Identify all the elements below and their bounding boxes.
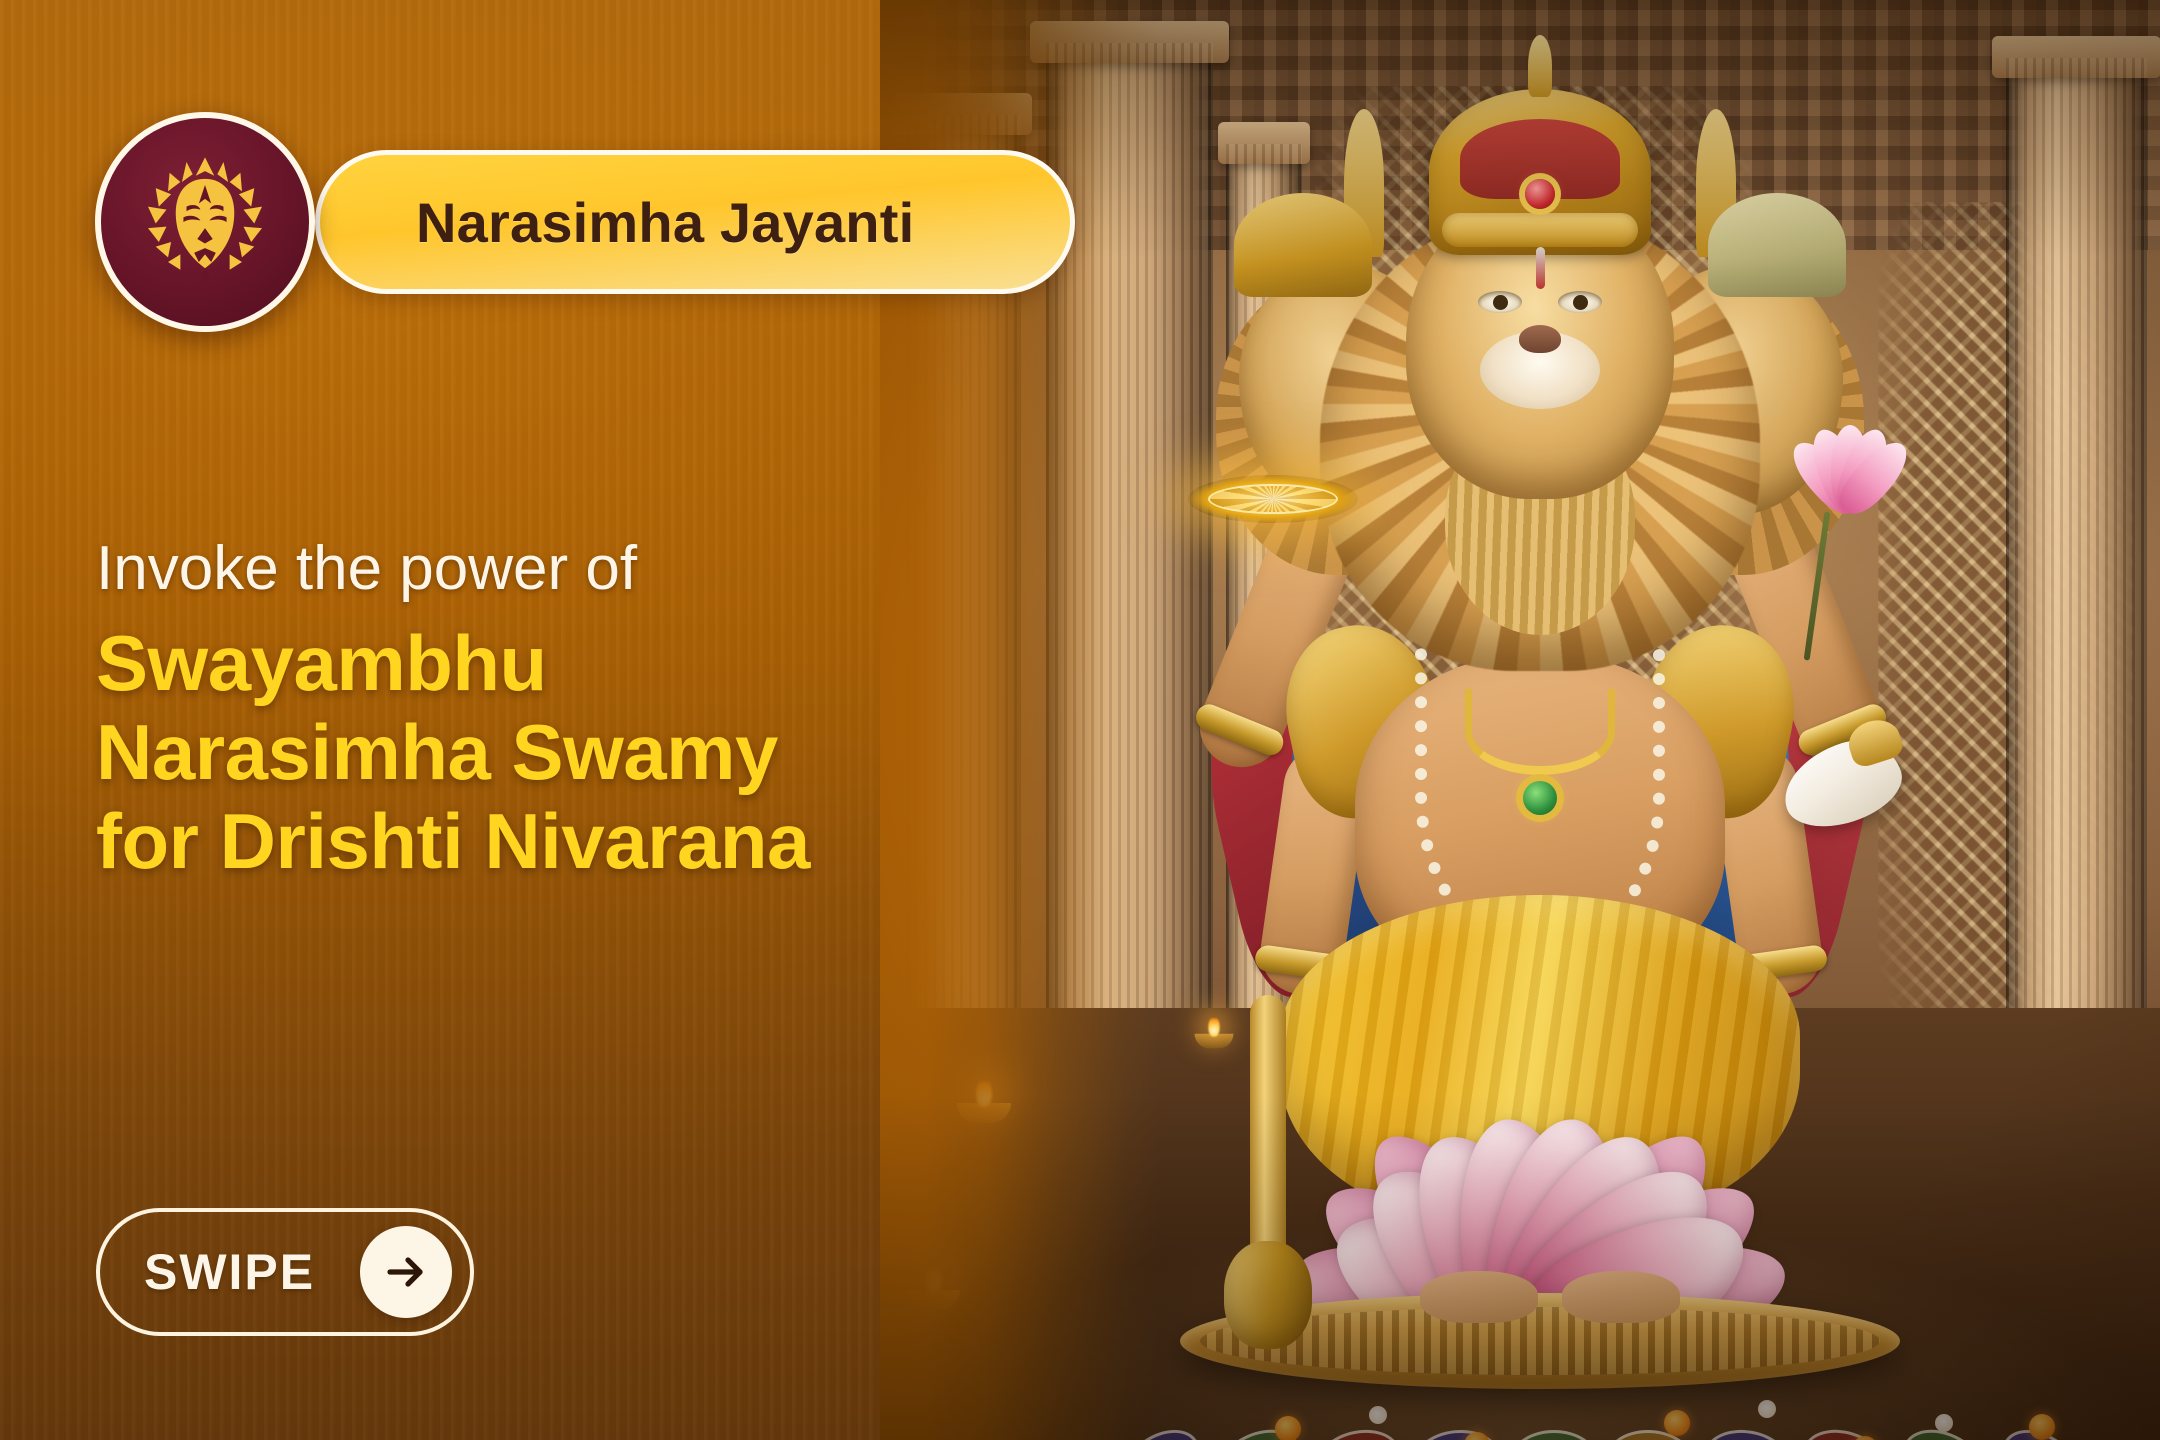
crown-left — [1234, 193, 1372, 297]
sudarshana-chakra-icon — [1188, 475, 1358, 523]
swipe-label: SWIPE — [144, 1243, 315, 1301]
emerald-pendant — [1523, 781, 1557, 815]
headline-title: Swayambhu Narasimha Swamy for Drishti Ni… — [96, 619, 956, 886]
headline-line-2: Narasimha Swamy — [96, 708, 956, 797]
content-column: Narasimha Jayanti — [0, 0, 1000, 1440]
pink-lotus-flower — [1786, 415, 1914, 519]
lion-head-icon — [95, 112, 315, 332]
stone-pillar — [2006, 58, 2147, 1124]
crown-gem — [1525, 179, 1555, 209]
headline-kicker: Invoke the power of — [96, 536, 956, 601]
swipe-button[interactable]: SWIPE — [96, 1208, 474, 1336]
deity-foot-left — [1420, 1271, 1538, 1323]
crown-right — [1708, 193, 1846, 297]
headline-line-1: Swayambhu — [96, 619, 956, 708]
headline-block: Invoke the power of Swayambhu Narasimha … — [96, 536, 956, 886]
brand-pill: Narasimha Jayanti — [315, 150, 1075, 294]
golden-crown-icon — [1429, 89, 1651, 255]
deity-foot-right — [1562, 1271, 1680, 1323]
arrow-right-icon[interactable] — [360, 1226, 452, 1318]
lion-nose — [1519, 325, 1561, 353]
brand-name: Narasimha Jayanti — [416, 190, 914, 255]
promo-card: Narasimha Jayanti — [0, 0, 2160, 1440]
gold-necklace — [1465, 689, 1615, 775]
narasimha-figure — [1160, 115, 1920, 1415]
headline-line-3: for Drishti Nivarana — [96, 797, 956, 886]
golden-mace — [1250, 995, 1286, 1295]
tilak-mark — [1536, 247, 1545, 289]
